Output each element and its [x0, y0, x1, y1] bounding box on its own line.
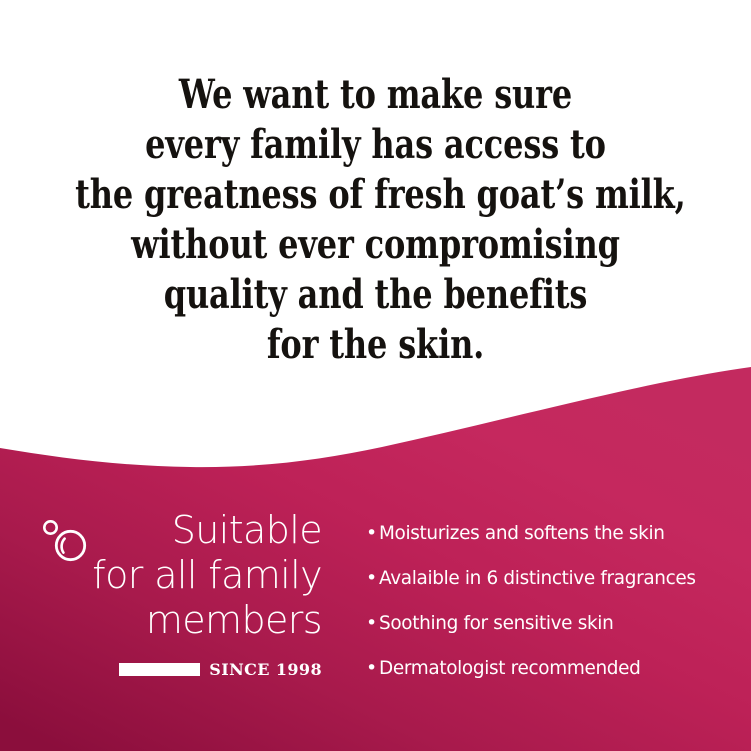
bullet-dot-icon: •	[366, 569, 379, 588]
headline-line-2: every family has access to	[75, 120, 676, 170]
bullet-dot-icon: •	[366, 614, 379, 633]
bullet-text: Avalaible in 6 distinctive fragrances	[379, 567, 696, 589]
promo-headline: Suitable for all family members	[0, 508, 322, 643]
headline-line-6: for the skin.	[75, 320, 676, 370]
headline-line-4: without ever compromising	[75, 220, 676, 270]
list-item: • Avalaible in 6 distinctive fragrances	[366, 567, 746, 612]
list-item: • Moisturizes and softens the skin	[366, 522, 746, 567]
promo-line-1: Suitable	[0, 508, 322, 553]
bottom-section: Suitable for all family members SINCE 19…	[0, 470, 751, 751]
bullet-dot-icon: •	[366, 524, 379, 543]
bullet-text: Soothing for sensitive skin	[379, 612, 613, 634]
promo-line-3: members	[0, 598, 322, 643]
promo-banner: We want to make sure every family has ac…	[0, 0, 751, 751]
benefits-list: • Moisturizes and softens the skin • Ava…	[366, 522, 746, 702]
headline-line-5: quality and the benefits	[75, 270, 676, 320]
list-item: • Soothing for sensitive skin	[366, 612, 746, 657]
bullet-dot-icon: •	[366, 659, 379, 678]
bullet-text: Moisturizes and softens the skin	[379, 522, 665, 544]
list-item: • Dermatologist recommended	[366, 657, 746, 702]
headline-line-1: We want to make sure	[75, 70, 676, 120]
headline-line-3: the greatness of fresh goat’s milk,	[75, 170, 676, 220]
promo-line-2: for all family	[0, 553, 322, 598]
since-bar-decoration	[119, 663, 200, 676]
since-row: SINCE 1998	[119, 660, 322, 679]
bullet-text: Dermatologist recommended	[379, 657, 641, 679]
since-label: SINCE 1998	[209, 660, 322, 679]
headline-block: We want to make sure every family has ac…	[75, 70, 676, 370]
